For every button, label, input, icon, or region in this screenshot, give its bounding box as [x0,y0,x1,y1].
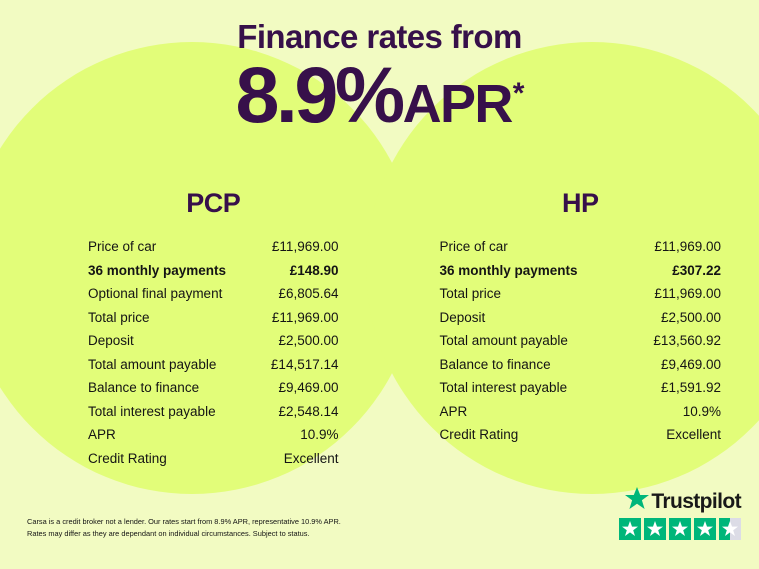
row-label: Balance to finance [88,381,199,395]
table-row: Total amount payable£13,560.92 [440,329,722,353]
row-value: £11,969.00 [654,287,721,301]
table-row: Total interest payable£1,591.92 [440,376,722,400]
table-row: APR10.9% [440,400,722,424]
row-label: Total interest payable [440,381,568,395]
row-value: Excellent [284,452,339,466]
row-value: Excellent [666,428,721,442]
rate-line: 8.9%APR* [0,57,759,133]
row-label: Balance to finance [440,358,551,372]
table-row: Total amount payable£14,517.14 [88,353,339,377]
row-value: £1,591.92 [661,381,721,395]
row-value: 10.9% [300,428,338,442]
row-value: £2,500.00 [661,311,721,325]
row-label: Credit Rating [88,452,167,466]
asterisk-marker: * [513,77,525,110]
table-row: Deposit£2,500.00 [88,329,339,353]
row-label: APR [440,405,468,419]
row-value: £2,500.00 [278,334,338,348]
row-value: £9,469.00 [278,381,338,395]
plan-rows-pcp: Price of car£11,969.0036 monthly payment… [88,235,339,470]
disclaimer-text: Carsa is a credit broker not a lender. O… [27,516,427,540]
row-label: Credit Rating [440,428,519,442]
trustpilot-star-full-icon [694,518,716,540]
row-value: £14,517.14 [271,358,339,372]
trustpilot-star-full-icon [669,518,691,540]
row-value: £307.22 [672,264,721,278]
row-label: Deposit [440,311,486,325]
row-value: £13,560.92 [653,334,721,348]
trustpilot-star-half-icon [719,518,741,540]
plan-rows-hp: Price of car£11,969.0036 monthly payment… [440,235,722,447]
trustpilot-wordmark: Trustpilot [619,489,741,513]
row-label: 36 monthly payments [440,264,578,278]
table-row: Total interest payable£2,548.14 [88,400,339,424]
row-value: 10.9% [683,405,721,419]
plan-card-pcp: PCP Price of car£11,969.0036 monthly pay… [0,190,380,470]
table-row: APR10.9% [88,423,339,447]
rate-value: 8.9% [236,50,402,139]
table-row: Credit RatingExcellent [440,423,722,447]
row-label: 36 monthly payments [88,264,226,278]
table-row: 36 monthly payments£307.22 [440,259,722,283]
row-label: Total interest payable [88,405,216,419]
row-label: APR [88,428,116,442]
row-label: Deposit [88,334,134,348]
row-value: £11,969.00 [272,240,339,254]
disclaimer-line-2: Rates may differ as they are dependant o… [27,528,427,540]
table-row: Balance to finance£9,469.00 [440,353,722,377]
trustpilot-name: Trustpilot [651,491,741,512]
row-label: Total price [88,311,150,325]
table-row: Credit RatingExcellent [88,447,339,471]
row-value: £2,548.14 [278,405,338,419]
row-value: £148.90 [290,264,339,278]
table-row: Balance to finance£9,469.00 [88,376,339,400]
table-row: Total price£11,969.00 [440,282,722,306]
finance-comparison: PCP Price of car£11,969.0036 monthly pay… [0,190,759,470]
table-row: 36 monthly payments£148.90 [88,259,339,283]
rate-apr-label: APR [403,74,512,134]
row-label: Price of car [88,240,156,254]
plan-title-pcp: PCP [88,190,339,217]
trustpilot-star-icon [625,487,649,515]
table-row: Deposit£2,500.00 [440,306,722,330]
row-label: Total amount payable [440,334,568,348]
promo-banner: Finance rates from 8.9%APR* PCP Price of… [0,0,759,569]
table-row: Price of car£11,969.00 [440,235,722,259]
row-value: £6,805.64 [278,287,338,301]
row-label: Price of car [440,240,508,254]
plan-title-hp: HP [440,190,722,217]
trustpilot-star-full-icon [619,518,641,540]
row-value: £11,969.00 [654,240,721,254]
trustpilot-star-full-icon [644,518,666,540]
row-value: £9,469.00 [661,358,721,372]
trustpilot-star-rating [619,518,741,540]
plan-card-hp: HP Price of car£11,969.0036 monthly paym… [380,190,759,470]
row-label: Total price [440,287,502,301]
row-label: Total amount payable [88,358,216,372]
table-row: Price of car£11,969.00 [88,235,339,259]
row-value: £11,969.00 [272,311,339,325]
table-row: Optional final payment£6,805.64 [88,282,339,306]
disclaimer-line-1: Carsa is a credit broker not a lender. O… [27,516,427,528]
trustpilot-badge[interactable]: Trustpilot [619,489,741,540]
table-row: Total price£11,969.00 [88,306,339,330]
row-label: Optional final payment [88,287,222,301]
headline-block: Finance rates from 8.9%APR* [0,20,759,132]
